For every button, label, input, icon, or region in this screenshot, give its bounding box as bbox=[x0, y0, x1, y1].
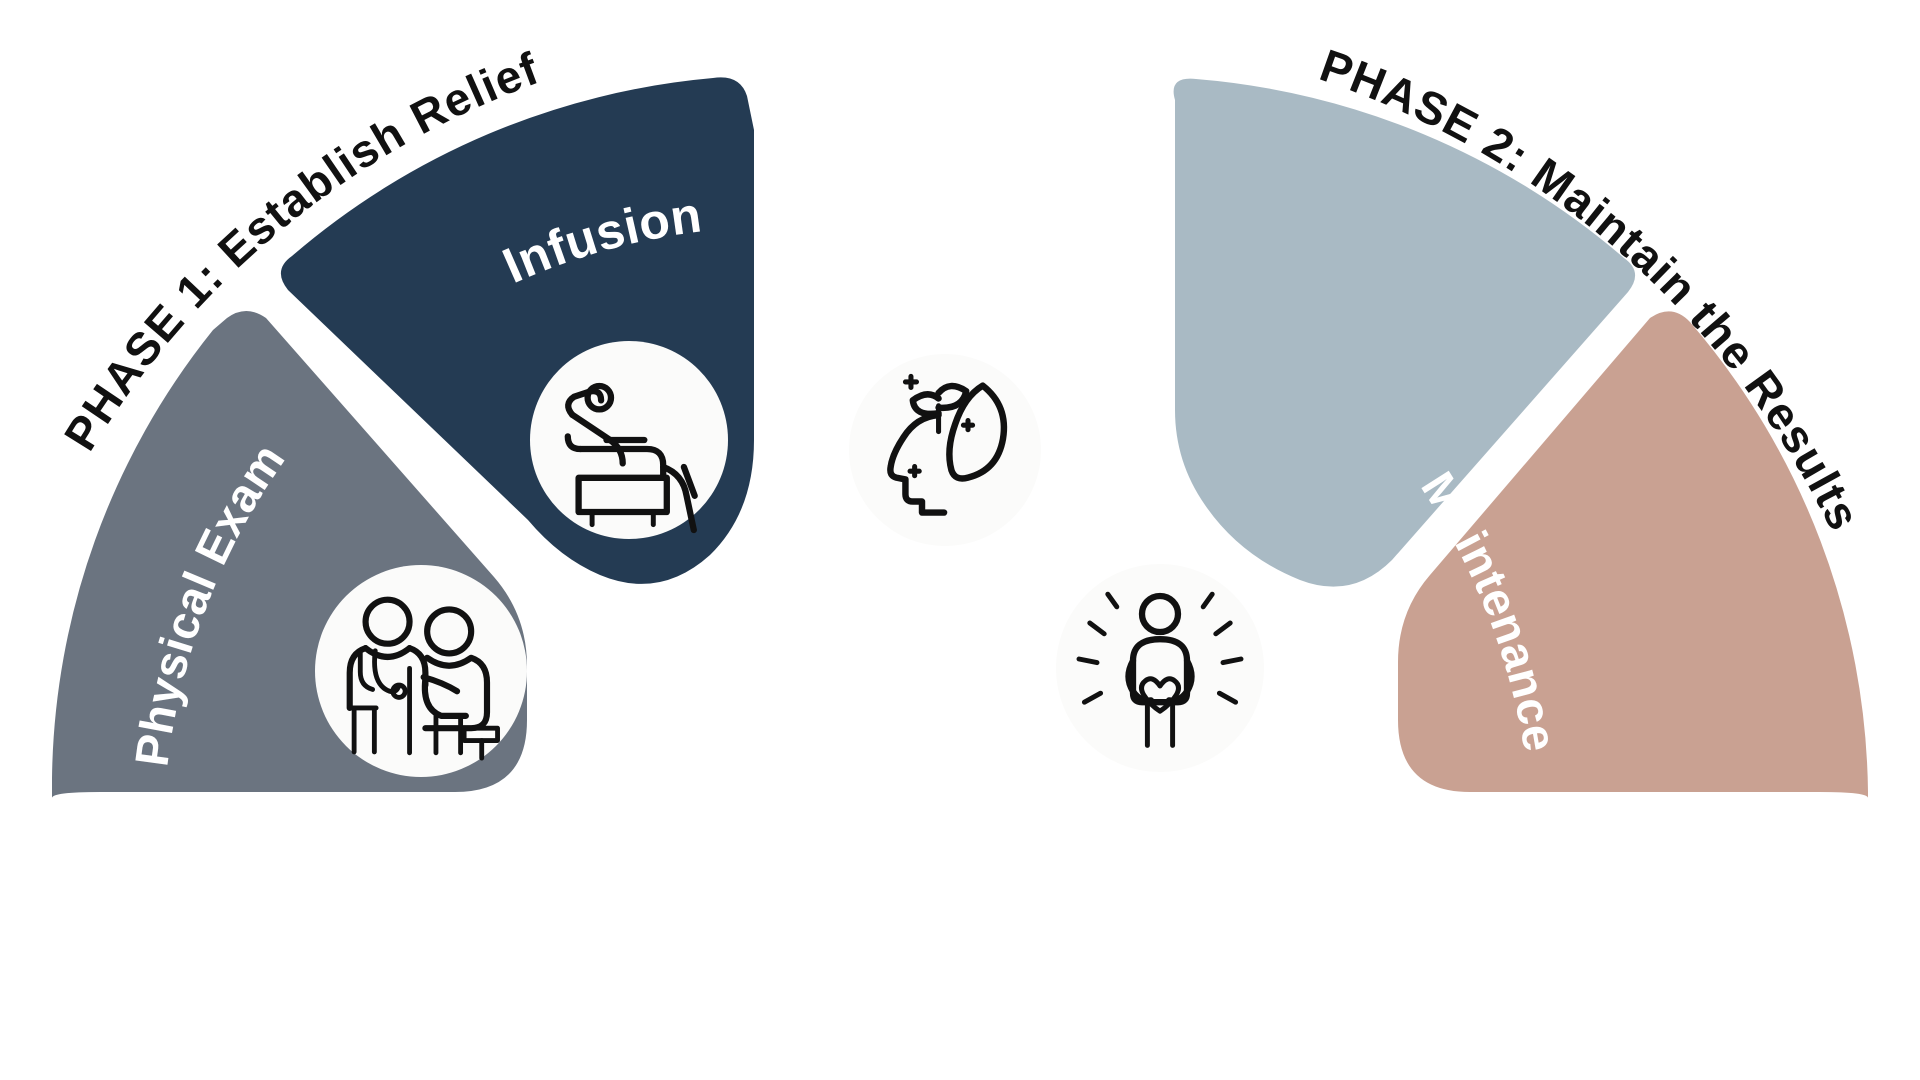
segment-growth-label-text: Growth bbox=[960, 189, 1150, 288]
icon-badge-growth[interactable] bbox=[849, 354, 1041, 546]
icon-badge-maintenance[interactable] bbox=[1056, 564, 1264, 772]
icon-badge-circle bbox=[849, 354, 1041, 546]
phase-fan-diagram: Physical Exam Infusion Growth bbox=[0, 0, 1920, 1080]
diagram-canvas: Physical Exam Infusion Growth bbox=[0, 0, 1920, 1080]
icon-badge-physical-exam[interactable] bbox=[315, 565, 527, 777]
icon-badge-infusion[interactable] bbox=[530, 341, 728, 539]
